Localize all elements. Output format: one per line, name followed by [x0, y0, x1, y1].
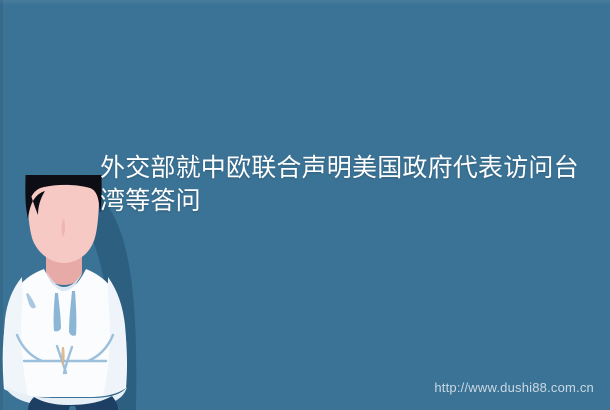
headline-text: 外交部就中欧联合声明美国政府代表访问台湾等答问: [100, 152, 595, 218]
top-edge-highlight: [0, 0, 610, 5]
source-url-watermark: http://www.dushi88.com.cn: [434, 380, 594, 396]
news-thumbnail-card: 外交部就中欧联合声明美国政府代表访问台湾等答问 http://www.dushi…: [0, 0, 610, 410]
